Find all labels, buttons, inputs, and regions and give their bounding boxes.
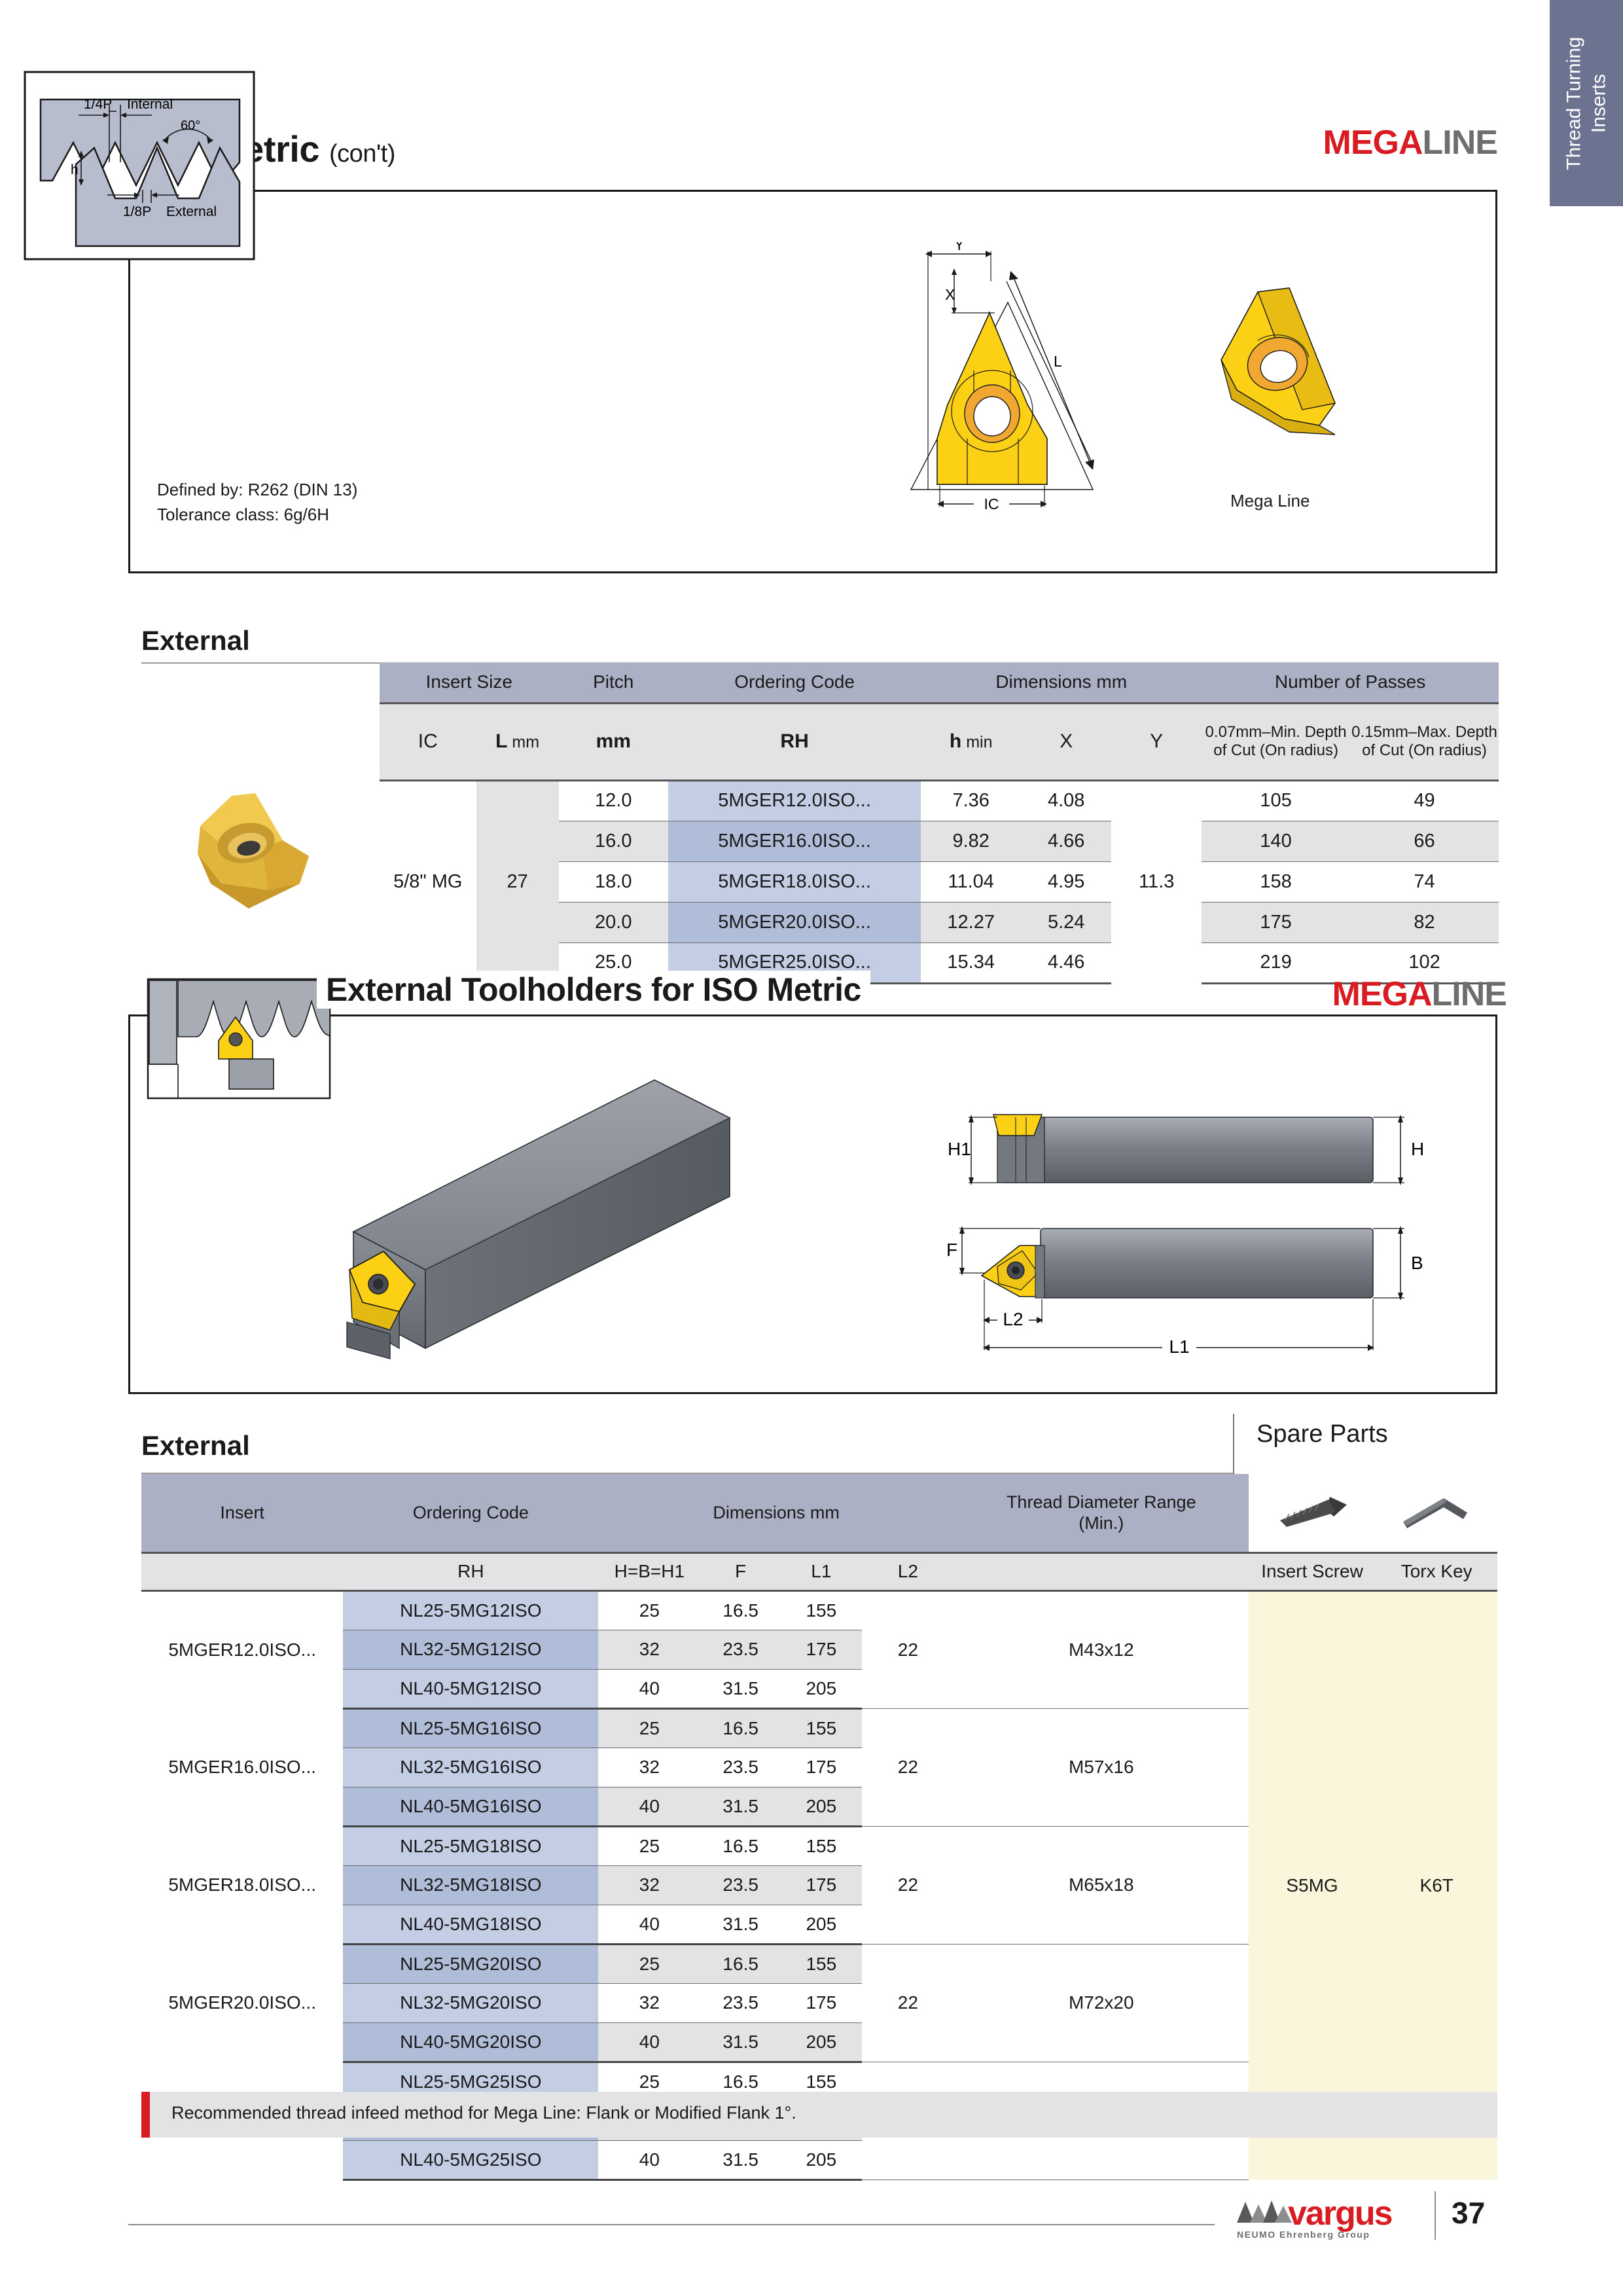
section-heading-external-toolholders: External — [141, 1430, 250, 1462]
page-title-suffix: (con't) — [329, 140, 395, 168]
table1-body: 5/8" MG 27 12.0 5MGER12.0ISO... 7.36 4.0… — [380, 780, 1499, 983]
cell-h-min: 15.34 — [921, 942, 1021, 983]
th-torx-key-label: Torx Key — [1376, 1552, 1497, 1590]
cell-insert: 5MGER12.0ISO... — [141, 1590, 343, 1708]
label-h: H — [1411, 1139, 1424, 1159]
th-dimensions-mm: Dimensions mm — [598, 1474, 954, 1552]
page-number: 37 — [1452, 2195, 1485, 2231]
vargus-logo: vargus NEUMO Ehrenberg Group — [1230, 2193, 1427, 2249]
th-insert-size: Insert Size — [380, 662, 559, 703]
th-f: F — [700, 1552, 781, 1590]
cell-insert: 5MGER16.0ISO... — [141, 1708, 343, 1826]
cell-y: 11.3 — [1111, 780, 1202, 983]
footer-note-text: Recommended thread infeed method for Meg… — [171, 2103, 796, 2123]
megaline-logo-toolholder: MEGALINE — [1332, 975, 1507, 1014]
table2-body: 5MGER12.0ISO... NL25-5MG12ISO 25 16.5 15… — [141, 1590, 1497, 2179]
cell-l1: 155 — [781, 1944, 862, 1983]
cell-hbh1: 25 — [598, 1826, 700, 1865]
vargus-wordmark: vargus — [1288, 2194, 1392, 2233]
side-tab-label: Thread Turning Inserts — [1562, 37, 1611, 170]
th-pitch-mm: mm — [559, 703, 668, 780]
th-ordering-code: Ordering Code — [343, 1474, 598, 1552]
cell-ordering-code: NL40-5MG18ISO — [343, 1905, 598, 1944]
cell-insert: 5MGER20.0ISO... — [141, 1944, 343, 2062]
toolholder-3d-render — [327, 1073, 772, 1368]
megaline-logo-top: MEGALINE — [1323, 123, 1497, 162]
th-number-of-passes: Number of Passes — [1202, 662, 1499, 703]
table2-sub-header-row: RH H=B=H1 F L1 L2 Insert Screw Torx Key — [141, 1552, 1497, 1590]
cell-h-min: 12.27 — [921, 902, 1021, 942]
th-insert-screw-label: Insert Screw — [1249, 1552, 1376, 1590]
cell-l1: 205 — [781, 1669, 862, 1708]
cell-h-min: 7.36 — [921, 780, 1021, 821]
cell-hbh1: 32 — [598, 1865, 700, 1905]
cell-x: 4.95 — [1021, 861, 1111, 902]
cell-l1: 155 — [781, 1708, 862, 1748]
cell-hbh1: 40 — [598, 2022, 700, 2062]
cell-h-min: 9.82 — [921, 821, 1021, 861]
cell-f: 31.5 — [700, 1787, 781, 1826]
cell-x: 4.08 — [1021, 780, 1111, 821]
side-tab-line1: Thread Turning — [1563, 37, 1585, 170]
label-l2: L2 — [1003, 1309, 1023, 1329]
cell-l1: 175 — [781, 1630, 862, 1669]
label-external: External — [166, 204, 217, 219]
th-passes-min: 0.07mm–Min. Depth of Cut (On radius) — [1202, 703, 1350, 780]
cell-f: 31.5 — [700, 1905, 781, 1944]
megaline-line-text: LINE — [1423, 124, 1497, 162]
side-tab-line2: Inserts — [1588, 73, 1609, 132]
svg-text:IC: IC — [984, 495, 999, 512]
cell-hbh1: 40 — [598, 1905, 700, 1944]
cell-x: 4.66 — [1021, 821, 1111, 861]
cell-f: 23.5 — [700, 1865, 781, 1905]
footer-rule — [128, 2224, 1215, 2225]
cell-passes-max: 82 — [1350, 902, 1499, 942]
torx-key-icon — [1394, 1490, 1479, 1531]
footer-note-accent-bar — [141, 2092, 150, 2138]
megaline-line-text: LINE — [1432, 975, 1507, 1013]
cell-passes-max: 74 — [1350, 861, 1499, 902]
label-h1: H1 — [948, 1139, 971, 1159]
cell-ordering-code: 5MGER12.0ISO... — [668, 780, 921, 821]
th-l1: L1 — [781, 1552, 862, 1590]
th-h-min: h min — [921, 703, 1021, 780]
th-thread-range-line1: Thread Diameter Range — [1007, 1492, 1196, 1512]
cell-pitch: 18.0 — [559, 861, 668, 902]
cell-hbh1: 40 — [598, 1669, 700, 1708]
cell-hbh1: 32 — [598, 1630, 700, 1669]
th-rh: RH — [343, 1552, 598, 1590]
cell-l1: 175 — [781, 1865, 862, 1905]
cell-ordering-code: NL40-5MG16ISO — [343, 1787, 598, 1826]
cell-l2: 22 — [862, 1944, 954, 2062]
insert-3d-caption: Mega Line — [1230, 491, 1310, 511]
cell-l1: 205 — [781, 1905, 862, 1944]
label-l: L — [1054, 353, 1062, 370]
cell-l2: 22 — [862, 1708, 954, 1826]
cell-ordering-code: 5MGER16.0ISO... — [668, 821, 921, 861]
th-insert: Insert — [141, 1474, 343, 1552]
label-f: F — [946, 1240, 957, 1260]
cell-h-min: 11.04 — [921, 861, 1021, 902]
cell-insert-size-ic: 5/8" MG — [380, 780, 476, 983]
side-tab-thread-turning-inserts: Thread Turning Inserts — [1550, 0, 1623, 206]
th-dimensions-mm: Dimensions mm — [921, 662, 1202, 703]
cell-hbh1: 40 — [598, 2140, 700, 2179]
cell-x: 4.46 — [1021, 942, 1111, 983]
cell-thread-range: M65x18 — [954, 1826, 1249, 1944]
cell-hbh1: 25 — [598, 1590, 700, 1630]
cell-passes-max: 49 — [1350, 780, 1499, 821]
cell-thread-range: M57x16 — [954, 1708, 1249, 1826]
th-l-mm: L mm — [476, 703, 559, 780]
cell-l1: 175 — [781, 1748, 862, 1787]
insert-3d-render — [1198, 275, 1368, 471]
cell-l1: 175 — [781, 1983, 862, 2022]
cell-f: 23.5 — [700, 1630, 781, 1669]
cell-f: 16.5 — [700, 1708, 781, 1748]
cell-l2: 22 — [862, 1826, 954, 1944]
cell-x: 5.24 — [1021, 902, 1111, 942]
cell-l2: 22 — [862, 1590, 954, 1708]
th-x: X — [1021, 703, 1111, 780]
cell-passes-min: 219 — [1202, 942, 1350, 983]
label-h: h — [71, 162, 79, 177]
cell-ordering-code: NL25-5MG12ISO — [343, 1590, 598, 1630]
cell-ordering-code: NL25-5MG18ISO — [343, 1826, 598, 1865]
cell-hbh1: 32 — [598, 1748, 700, 1787]
cell-ordering-code: 5MGER20.0ISO... — [668, 902, 921, 942]
label-x: X — [945, 286, 955, 303]
tolerance-class-text: Tolerance class: 6g/6H — [157, 503, 357, 528]
insert-screw-icon — [1270, 1490, 1355, 1531]
cell-insert-screw-value: S5MG — [1249, 1590, 1376, 2179]
cell-ordering-code: NL25-5MG16ISO — [343, 1708, 598, 1748]
cell-passes-max: 66 — [1350, 821, 1499, 861]
page-number-separator — [1435, 2191, 1436, 2240]
th-torx-key-icon-cell — [1376, 1474, 1497, 1552]
label-l1: L1 — [1169, 1336, 1189, 1357]
cell-thread-range: M43x12 — [954, 1590, 1249, 1708]
cell-hbh1: 25 — [598, 1944, 700, 1983]
cell-f: 23.5 — [700, 1983, 781, 2022]
cell-ordering-code: NL32-5MG18ISO — [343, 1865, 598, 1905]
cell-l1: 205 — [781, 2140, 862, 2179]
thread-cutting-diagram — [140, 967, 336, 1108]
table-row: 5/8" MG 27 12.0 5MGER12.0ISO... 7.36 4.0… — [380, 780, 1499, 821]
cell-f: 31.5 — [700, 2140, 781, 2179]
cell-passes-min: 105 — [1202, 780, 1350, 821]
cell-f: 31.5 — [700, 2022, 781, 2062]
cell-f: 16.5 — [700, 1944, 781, 1983]
thread-profile-diagram: 1/4P Internal 60° h 1/8P External — [24, 71, 272, 267]
th-hbh1: H=B=H1 — [598, 1552, 700, 1590]
cell-ordering-code: NL40-5MG12ISO — [343, 1669, 598, 1708]
cell-f: 31.5 — [700, 1669, 781, 1708]
toolholder-section-title: External Toolholders for ISO Metric — [317, 971, 870, 1009]
label-internal: Internal — [127, 97, 173, 112]
th-thread-diameter-range: Thread Diameter Range (Min.) — [954, 1474, 1249, 1552]
cell-thread-range: M72x20 — [954, 1944, 1249, 2062]
catalog-page: Thread Turning Inserts ISO Metric (con't… — [0, 0, 1623, 2296]
cell-l1: 155 — [781, 1590, 862, 1630]
label-eighth-p: 1/8P — [123, 204, 151, 219]
insert-photo — [183, 785, 347, 916]
th-y: Y — [1111, 703, 1202, 780]
megaline-mega-text: MEGA — [1332, 975, 1432, 1013]
toolholder-dimension-views: H1 H F B L2 — [942, 1077, 1453, 1365]
th-insert-screw-icon-cell — [1249, 1474, 1376, 1552]
table1-group-header-row: Insert Size Pitch Ordering Code Dimensio… — [380, 662, 1499, 703]
cell-passes-min: 175 — [1202, 902, 1350, 942]
th-passes-max: 0.15mm–Max. Depth of Cut (On radius) — [1350, 703, 1499, 780]
section-heading-external-inserts: External — [141, 625, 250, 656]
th-l2: L2 — [862, 1552, 954, 1590]
th-blank-2 — [954, 1552, 1249, 1590]
profile-caption: Defined by: R262 (DIN 13) Tolerance clas… — [157, 478, 357, 527]
cell-insert-size-l: 27 — [476, 780, 559, 983]
cell-ordering-code: 5MGER18.0ISO... — [668, 861, 921, 902]
cell-ordering-code: NL40-5MG25ISO — [343, 2140, 598, 2179]
cell-l1: 205 — [781, 2022, 862, 2062]
cell-f: 23.5 — [700, 1748, 781, 1787]
vargus-mountain-icon — [1236, 2197, 1292, 2224]
cell-ordering-code: NL25-5MG20ISO — [343, 1944, 598, 1983]
th-ic: IC — [380, 703, 476, 780]
table1-sub-header-row: IC L mm mm RH h min X Y 0.07mm–Min. Dept… — [380, 703, 1499, 780]
table2-group-header-row: Insert Ordering Code Dimensions mm Threa… — [141, 1474, 1497, 1552]
cell-pitch: 20.0 — [559, 902, 668, 942]
table-row: 5MGER12.0ISO... NL25-5MG12ISO 25 16.5 15… — [141, 1590, 1497, 1630]
th-ordering-code: Ordering Code — [668, 662, 921, 703]
megaline-mega-text: MEGA — [1323, 124, 1423, 162]
cell-pitch: 16.0 — [559, 821, 668, 861]
cell-ordering-code: NL32-5MG16ISO — [343, 1748, 598, 1787]
th-blank — [141, 1552, 343, 1590]
cell-l1: 205 — [781, 1787, 862, 1826]
cell-f: 16.5 — [700, 1826, 781, 1865]
vargus-subtitle: NEUMO Ehrenberg Group — [1237, 2229, 1370, 2240]
defined-by-text: Defined by: R262 (DIN 13) — [157, 478, 357, 503]
label-b: B — [1411, 1253, 1423, 1273]
cell-insert: 5MGER18.0ISO... — [141, 1826, 343, 1944]
cell-hbh1: 40 — [598, 1787, 700, 1826]
toolholder-data-table: Insert Ordering Code Dimensions mm Threa… — [141, 1474, 1497, 2181]
cell-passes-min: 158 — [1202, 861, 1350, 902]
cell-hbh1: 32 — [598, 1983, 700, 2022]
cell-pitch: 12.0 — [559, 780, 668, 821]
th-pitch: Pitch — [559, 662, 668, 703]
cell-torx-key-value: K6T — [1376, 1590, 1497, 2179]
th-thread-range-line2: (Min.) — [1079, 1513, 1124, 1533]
cell-f: 16.5 — [700, 1590, 781, 1630]
cell-hbh1: 25 — [598, 1708, 700, 1748]
cell-ordering-code: NL32-5MG20ISO — [343, 1983, 598, 2022]
cell-ordering-code: NL32-5MG12ISO — [343, 1630, 598, 1669]
label-y: Y — [954, 242, 964, 253]
spare-parts-divider — [1233, 1414, 1234, 1476]
cell-passes-min: 140 — [1202, 821, 1350, 861]
cell-l1: 155 — [781, 1826, 862, 1865]
cell-ordering-code: NL40-5MG20ISO — [343, 2022, 598, 2062]
spare-parts-heading: Spare Parts — [1257, 1420, 1388, 1448]
label-quarter-p: 1/4P — [84, 97, 112, 112]
th-rh: RH — [668, 703, 921, 780]
insert-data-table: Insert Size Pitch Ordering Code Dimensio… — [380, 662, 1499, 984]
